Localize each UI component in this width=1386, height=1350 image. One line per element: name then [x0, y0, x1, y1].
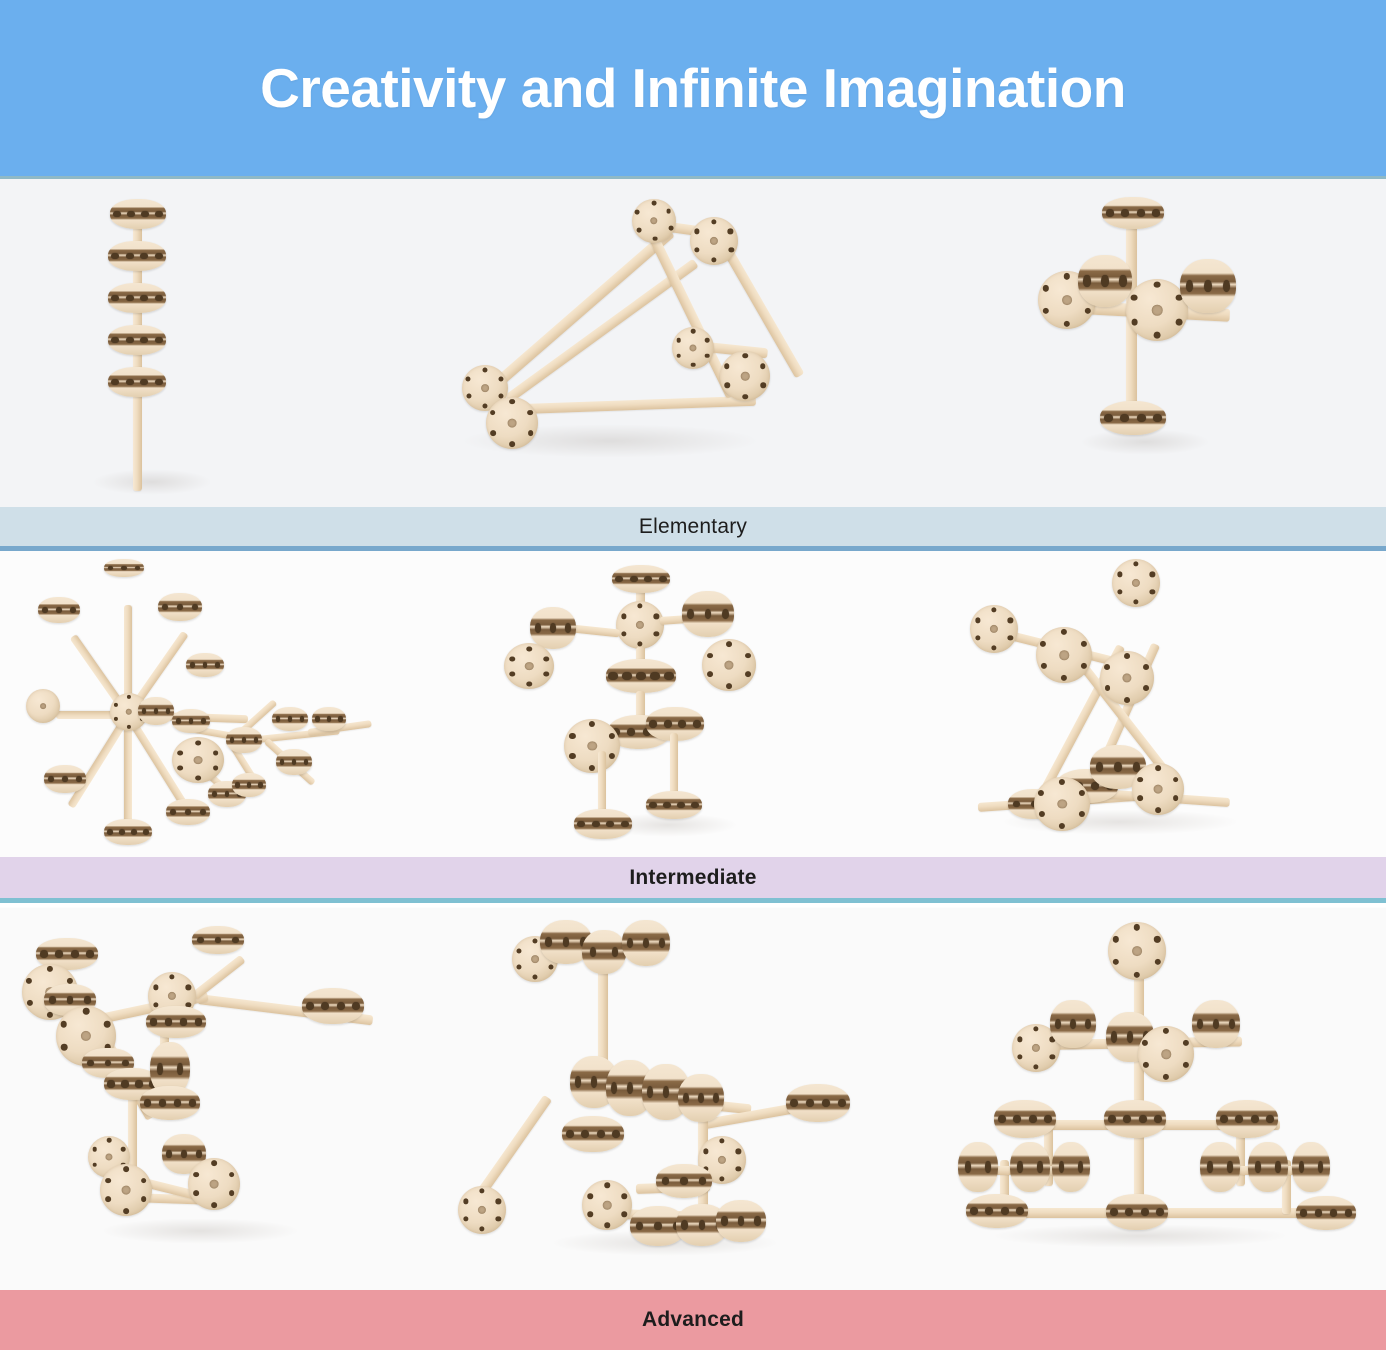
band-separator — [0, 903, 1386, 907]
wheel-disc — [1102, 197, 1164, 229]
wheel-hub — [690, 217, 738, 265]
wheel-disc — [1126, 279, 1188, 341]
wheel-disc — [1078, 255, 1132, 307]
build-photo-articulated-crane — [0, 908, 450, 1290]
build-photo-triangular-prism-frame — [420, 179, 840, 507]
page-title: Creativity and Infinite Imagination — [260, 61, 1126, 116]
wheel-disc — [1100, 401, 1166, 435]
wheel-disc — [108, 367, 166, 397]
build-photo-stacked-wheel-tower — [0, 179, 420, 507]
build-photo-four-legged-animal — [450, 908, 900, 1290]
wheel-disc — [108, 283, 166, 313]
wheel-hub — [672, 327, 714, 369]
wheel-disc — [110, 199, 166, 229]
wheel-disc — [108, 325, 166, 355]
level-band-advanced: Advanced — [0, 1290, 1386, 1350]
wheel-hub — [632, 199, 676, 243]
wheel-disc — [108, 241, 166, 271]
build-photo-symmetric-tower-tree — [900, 908, 1386, 1290]
wheel-disc — [1180, 259, 1236, 313]
level-label-advanced: Advanced — [642, 1308, 744, 1332]
build-photo-starburst-snowflake — [0, 551, 430, 857]
level-label-elementary: Elementary — [639, 515, 747, 539]
level-label-intermediate: Intermediate — [629, 866, 756, 890]
build-photo-rolling-cart — [930, 551, 1386, 857]
build-photo-stick-figure-robot — [430, 551, 840, 857]
photo-row-intermediate — [0, 551, 1386, 857]
product-infographic: Creativity and Infinite Imagination — [0, 0, 1386, 1350]
photo-row-advanced — [0, 908, 1386, 1290]
photo-row-elementary — [0, 179, 1386, 507]
header-banner: Creativity and Infinite Imagination — [0, 0, 1386, 176]
wheel-hub — [486, 397, 538, 449]
level-band-elementary: Elementary — [0, 507, 1386, 551]
level-band-intermediate: Intermediate — [0, 857, 1386, 903]
wheel-hub — [720, 351, 770, 401]
build-photo-wheeled-axle-cross — [930, 179, 1386, 507]
